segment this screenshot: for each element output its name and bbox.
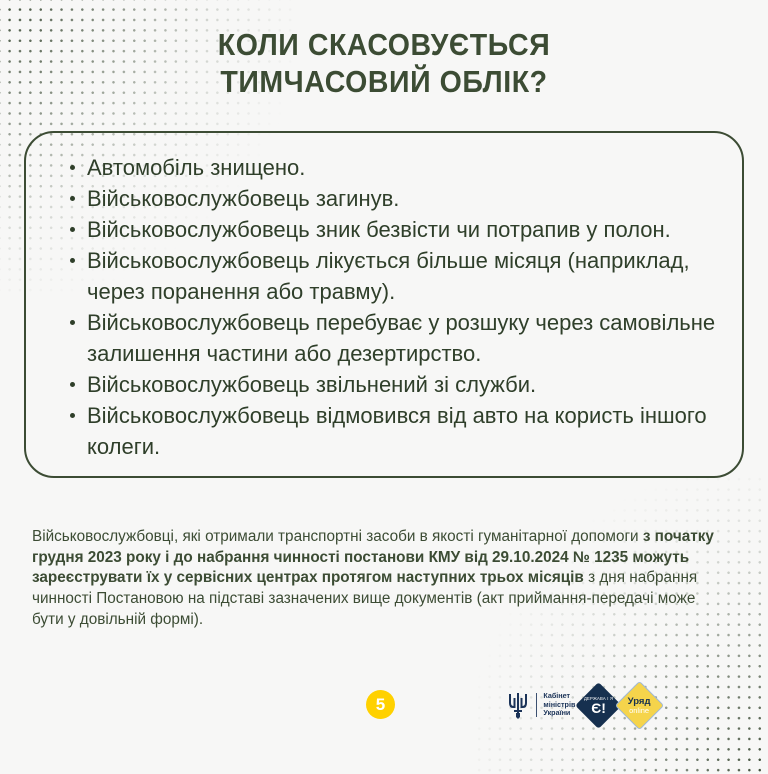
- footnote-part-1: Військовослужбовці, які отримали транспо…: [32, 528, 643, 545]
- list-item: Військовослужбовець відмовився від авто …: [68, 400, 718, 462]
- uryad-sub-text: online: [628, 706, 651, 714]
- trident-icon: [506, 690, 530, 720]
- cabinet-of-ministers-label: Кабінет міністрів України: [543, 692, 575, 717]
- diia-main-text: Є!: [584, 700, 613, 714]
- page-title: КОЛИ СКАСОВУЄТЬСЯ ТИМЧАСОВИЙ ОБЛІК?: [31, 26, 738, 100]
- page-title-line-1: КОЛИ СКАСОВУЄТЬСЯ: [31, 26, 738, 63]
- cabinet-of-ministers-logo: Кабінет міністрів України: [506, 690, 575, 720]
- uryad-online-logo: Уряд online: [615, 680, 664, 729]
- conditions-card: Автомобіль знищено. Військовослужбовець …: [24, 131, 744, 478]
- footnote-paragraph: Військовослужбовці, які отримали транспо…: [32, 527, 716, 630]
- uryad-main-text: Уряд: [628, 696, 651, 706]
- logo-group: Кабінет міністрів України ДЕРЖАВА І Я Є!…: [506, 684, 657, 726]
- list-item: Автомобіль знищено.: [68, 152, 718, 183]
- page-title-line-2: ТИМЧАСОВИЙ ОБЛІК?: [31, 63, 738, 100]
- cmu-line-3: України: [543, 709, 575, 717]
- list-item: Військовослужбовець зник безвісти чи пот…: [68, 214, 718, 245]
- list-item: Військовослужбовець загинув.: [68, 183, 718, 214]
- logo-divider: [536, 693, 537, 717]
- list-item: Військовослужбовець лікується більше міс…: [68, 245, 718, 307]
- poster-page: КОЛИ СКАСОВУЄТЬСЯ ТИМЧАСОВИЙ ОБЛІК? Авто…: [0, 0, 768, 768]
- list-item: Військовослужбовець звільнений зі служби…: [68, 369, 718, 400]
- list-item: Військовослужбовець перебуває у розшуку …: [68, 307, 718, 369]
- slide-number-badge: 5: [366, 690, 395, 719]
- conditions-list: Автомобіль знищено. Військовослужбовець …: [68, 152, 718, 462]
